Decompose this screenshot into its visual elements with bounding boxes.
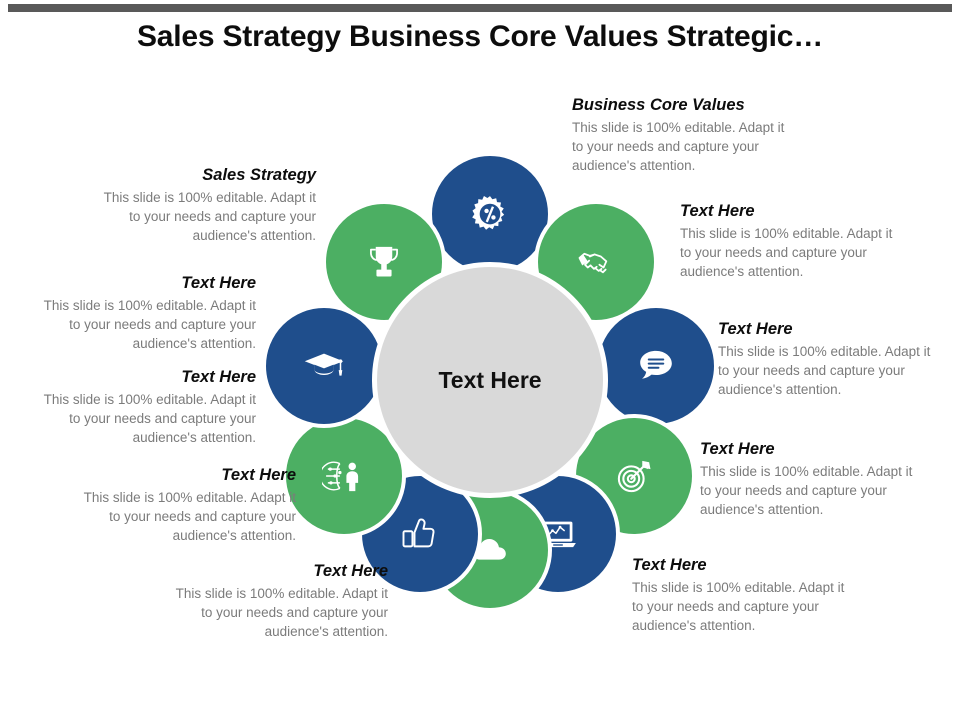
top-bar-area bbox=[0, 0, 960, 12]
text-block-heading: Text Here bbox=[80, 466, 296, 485]
text-block-heading: Business Core Values bbox=[572, 96, 788, 115]
page-title: Sales Strategy Business Core Values Stra… bbox=[0, 20, 960, 54]
text-block-heading: Text Here bbox=[172, 562, 388, 581]
text-block-heading: Text Here bbox=[40, 274, 256, 293]
text-block-body: This slide is 100% editable. Adapt it to… bbox=[572, 118, 788, 175]
text-block-right-1: Business Core Values This slide is 100% … bbox=[572, 96, 788, 175]
thumbs-up-icon bbox=[398, 512, 442, 556]
center-hub[interactable]: Text Here bbox=[372, 262, 608, 498]
petal-chat[interactable] bbox=[594, 304, 718, 428]
text-block-left-2: Text Here This slide is 100% editable. A… bbox=[40, 274, 256, 353]
text-block-body: This slide is 100% editable. Adapt it to… bbox=[172, 584, 388, 641]
text-block-body: This slide is 100% editable. Adapt it to… bbox=[100, 188, 316, 245]
text-block-heading: Text Here bbox=[680, 202, 896, 221]
text-block-left-3: Text Here This slide is 100% editable. A… bbox=[40, 368, 256, 447]
text-block-body: This slide is 100% editable. Adapt it to… bbox=[632, 578, 848, 635]
chat-bubble-icon bbox=[634, 344, 678, 388]
trophy-icon bbox=[362, 240, 406, 284]
text-block-heading: Text Here bbox=[700, 440, 916, 459]
circular-infographic: Text Here bbox=[260, 150, 720, 610]
text-block-right-2: Text Here This slide is 100% editable. A… bbox=[680, 202, 896, 281]
center-label: Text Here bbox=[438, 367, 541, 394]
top-accent-bar bbox=[8, 4, 952, 12]
graduation-cap-icon bbox=[302, 344, 346, 388]
text-block-heading: Text Here bbox=[40, 368, 256, 387]
text-block-body: This slide is 100% editable. Adapt it to… bbox=[700, 462, 916, 519]
text-block-right-4: Text Here This slide is 100% editable. A… bbox=[700, 440, 916, 519]
text-block-right-5: Text Here This slide is 100% editable. A… bbox=[632, 556, 848, 635]
target-icon bbox=[612, 454, 656, 498]
text-block-body: This slide is 100% editable. Adapt it to… bbox=[40, 296, 256, 353]
text-block-body: This slide is 100% editable. Adapt it to… bbox=[680, 224, 896, 281]
gear-percent-icon bbox=[468, 192, 512, 236]
text-block-heading: Sales Strategy bbox=[100, 166, 316, 185]
text-block-left-4: Text Here This slide is 100% editable. A… bbox=[80, 466, 296, 545]
text-block-body: This slide is 100% editable. Adapt it to… bbox=[718, 342, 934, 399]
text-block-heading: Text Here bbox=[718, 320, 934, 339]
text-block-right-3: Text Here This slide is 100% editable. A… bbox=[718, 320, 934, 399]
text-block-left-5: Text Here This slide is 100% editable. A… bbox=[172, 562, 388, 641]
slide-canvas: Sales Strategy Business Core Values Stra… bbox=[0, 0, 960, 720]
text-block-left-1: Sales Strategy This slide is 100% editab… bbox=[100, 166, 316, 245]
text-block-body: This slide is 100% editable. Adapt it to… bbox=[40, 390, 256, 447]
globe-person-icon bbox=[322, 454, 366, 498]
handshake-icon bbox=[574, 240, 618, 284]
text-block-body: This slide is 100% editable. Adapt it to… bbox=[80, 488, 296, 545]
petal-graduation-cap[interactable] bbox=[262, 304, 386, 428]
text-block-heading: Text Here bbox=[632, 556, 848, 575]
